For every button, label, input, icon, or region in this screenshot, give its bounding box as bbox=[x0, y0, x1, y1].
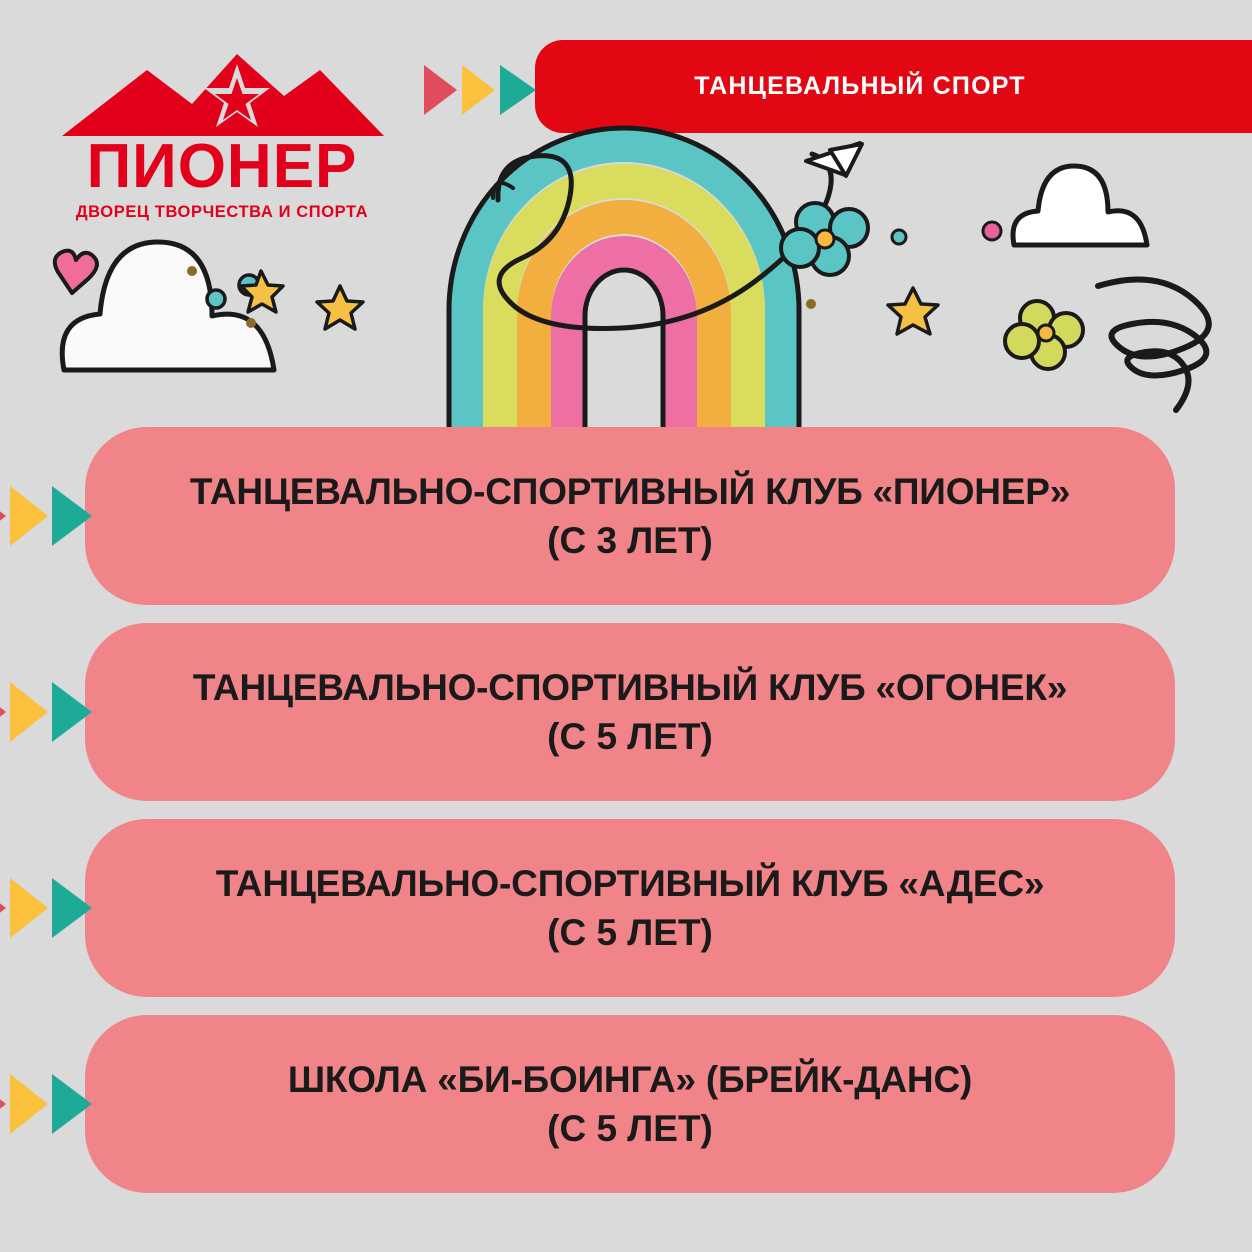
arrow-teal-icon bbox=[500, 65, 536, 115]
flower-teal-icon bbox=[781, 203, 868, 275]
cloud-right-icon bbox=[1013, 166, 1147, 245]
dot-teal-2-icon bbox=[239, 275, 259, 295]
flower-green-icon bbox=[1005, 301, 1083, 369]
program-card-1[interactable]: ТАНЦЕВАЛЬНО-СПОРТИВНЫЙ КЛУБ «ПИОНЕР» (С … bbox=[85, 427, 1175, 605]
arrow-yellow-icon bbox=[10, 1074, 48, 1134]
header-arrow-group bbox=[424, 62, 544, 118]
dot-brown-2-icon bbox=[246, 318, 256, 328]
arrow-yellow-icon bbox=[10, 878, 48, 938]
mountain-star-icon bbox=[52, 48, 392, 143]
row-arrow-group-2 bbox=[0, 679, 128, 745]
arrow-red-icon bbox=[424, 65, 457, 115]
brand-logo[interactable]: ПИОНЕР ДВОРЕЦ ТВОРЧЕСТВА И СПОРТА bbox=[52, 48, 392, 228]
arrow-red-icon bbox=[0, 878, 6, 938]
card-title: ШКОЛА «БИ-БОИНГА» (БРЕЙК-ДАНС) bbox=[288, 1059, 972, 1100]
arrow-teal-icon bbox=[52, 878, 92, 938]
dot-teal-3-icon bbox=[892, 230, 906, 244]
card-age: (С 5 ЛЕТ) bbox=[547, 1108, 713, 1149]
card-title: ТАНЦЕВАЛЬНО-СПОРТИВНЫЙ КЛУБ «АДЕС» bbox=[216, 863, 1045, 904]
arrow-red-icon bbox=[0, 1074, 6, 1134]
arrow-red-icon bbox=[0, 486, 6, 546]
dot-pink-icon bbox=[983, 222, 1001, 240]
paper-plane-icon bbox=[806, 143, 862, 176]
arrow-yellow-icon bbox=[10, 486, 48, 546]
program-card-list: ТАНЦЕВАЛЬНО-СПОРТИВНЫЙ КЛУБ «ПИОНЕР» (С … bbox=[0, 427, 1252, 1211]
program-card-3[interactable]: ТАНЦЕВАЛЬНО-СПОРТИВНЫЙ КЛУБ «АДЕС» (С 5 … bbox=[85, 819, 1175, 997]
card-row: ТАНЦЕВАЛЬНО-СПОРТИВНЫЙ КЛУБ «АДЕС» (С 5 … bbox=[0, 819, 1252, 997]
card-row: ТАНЦЕВАЛЬНО-СПОРТИВНЫЙ КЛУБ «ПИОНЕР» (С … bbox=[0, 427, 1252, 605]
cloud-left-icon bbox=[62, 242, 274, 370]
logo-tagline: ДВОРЕЦ ТВОРЧЕСТВА И СПОРТА bbox=[52, 204, 392, 221]
card-age: (С 5 ЛЕТ) bbox=[547, 716, 713, 757]
dot-teal-icon bbox=[207, 290, 225, 308]
arrow-teal-icon bbox=[52, 1074, 92, 1134]
dot-brown-3-icon bbox=[806, 299, 816, 309]
spiral-squiggle-icon bbox=[1098, 280, 1209, 410]
row-arrow-group-4 bbox=[0, 1071, 128, 1137]
arrow-yellow-icon bbox=[462, 65, 495, 115]
program-card-4[interactable]: ШКОЛА «БИ-БОИНГА» (БРЕЙК-ДАНС) (С 5 ЛЕТ) bbox=[85, 1015, 1175, 1193]
dot-brown-icon bbox=[187, 266, 197, 276]
card-title: ТАНЦЕВАЛЬНО-СПОРТИВНЫЙ КЛУБ «ОГОНЕК» bbox=[193, 667, 1067, 708]
heart-icon bbox=[55, 251, 97, 293]
row-arrow-group-3 bbox=[0, 875, 128, 941]
poster-canvas: ПИОНЕР ДВОРЕЦ ТВОРЧЕСТВА И СПОРТА ТАНЦЕВ… bbox=[0, 0, 1252, 1252]
card-title: ТАНЦЕВАЛЬНО-СПОРТИВНЫЙ КЛУБ «ПИОНЕР» bbox=[190, 471, 1070, 512]
arrow-red-icon bbox=[0, 682, 6, 742]
arrow-yellow-icon bbox=[10, 682, 48, 742]
star-left-2-icon bbox=[317, 286, 363, 329]
star-right-icon bbox=[888, 288, 938, 334]
arrow-teal-icon bbox=[52, 486, 92, 546]
row-arrow-group-1 bbox=[0, 483, 128, 549]
card-row: ШКОЛА «БИ-БОИНГА» (БРЕЙК-ДАНС) (С 5 ЛЕТ) bbox=[0, 1015, 1252, 1193]
card-age: (С 5 ЛЕТ) bbox=[547, 912, 713, 953]
program-card-2[interactable]: ТАНЦЕВАЛЬНО-СПОРТИВНЫЙ КЛУБ «ОГОНЕК» (С … bbox=[85, 623, 1175, 801]
card-row: ТАНЦЕВАЛЬНО-СПОРТИВНЫЙ КЛУБ «ОГОНЕК» (С … bbox=[0, 623, 1252, 801]
arrow-teal-icon bbox=[52, 682, 92, 742]
page-title: ТАНЦЕВАЛЬНЫЙ СПОРТ bbox=[535, 40, 1185, 133]
card-age: (С 3 ЛЕТ) bbox=[547, 520, 713, 561]
logo-wordmark: ПИОНЕР bbox=[52, 136, 392, 198]
star-left-icon bbox=[241, 271, 283, 312]
